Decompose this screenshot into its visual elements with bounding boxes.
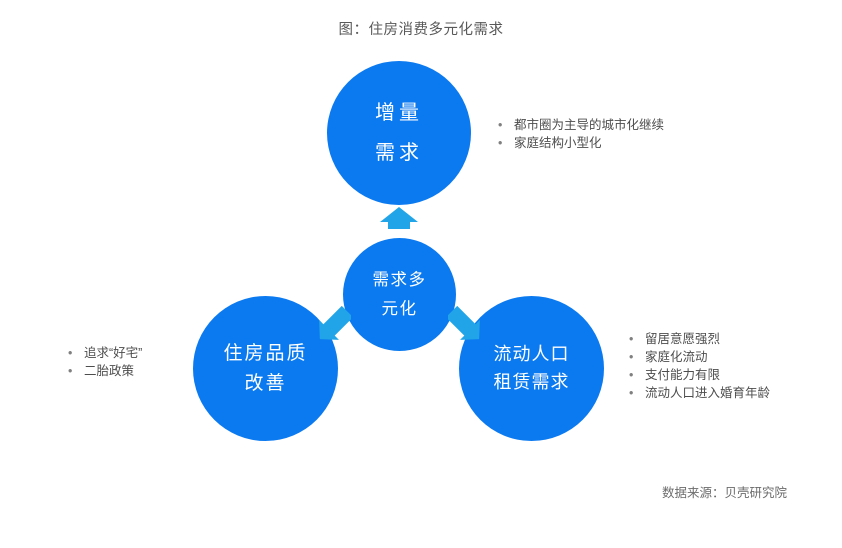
bullet-list-migrant-rental: • 留居意愿强烈 • 家庭化流动 • 支付能力有限 • 流动人口进入婚育年龄: [629, 330, 770, 402]
node-center-line1: 需求多: [373, 266, 427, 294]
bullet-dot-icon: •: [68, 362, 84, 380]
bullet-text: 二胎政策: [84, 362, 134, 380]
node-quality-line2: 改善: [244, 369, 286, 398]
node-circle-growth-demand[interactable]: 增量 需求: [327, 61, 471, 205]
node-circle-diversified-demand[interactable]: 需求多 元化: [343, 238, 456, 351]
node-quality-line1: 住房品质: [223, 339, 307, 368]
node-growth-line1: 增量: [375, 93, 423, 133]
list-item: • 追求“好宅”: [68, 344, 142, 362]
bullet-list-housing-quality: • 追求“好宅” • 二胎政策: [68, 344, 142, 380]
bullet-text: 家庭化流动: [645, 348, 708, 366]
source-note: 数据来源：贝壳研究院: [662, 482, 787, 501]
node-rental-line2: 租赁需求: [494, 369, 570, 397]
bullet-text: 流动人口进入婚育年龄: [645, 384, 770, 402]
figure-title: 图：住房消费多元化需求: [0, 18, 842, 39]
bullet-dot-icon: •: [498, 116, 514, 134]
bullet-dot-icon: •: [498, 134, 514, 152]
figure-canvas: 图：住房消费多元化需求 增量 需求 需求多 元化 住房品质 改善 流动人口 租赁…: [0, 0, 842, 548]
list-item: • 家庭化流动: [629, 348, 770, 366]
list-item: • 支付能力有限: [629, 366, 770, 384]
node-center-line2: 元化: [382, 295, 418, 323]
bullet-dot-icon: •: [629, 384, 645, 402]
list-item: • 二胎政策: [68, 362, 142, 380]
bullet-dot-icon: •: [629, 348, 645, 366]
bullet-text: 留居意愿强烈: [645, 330, 720, 348]
list-item: • 流动人口进入婚育年龄: [629, 384, 770, 402]
bullet-dot-icon: •: [629, 366, 645, 384]
list-item: • 留居意愿强烈: [629, 330, 770, 348]
arrow-up-icon: [378, 206, 420, 230]
node-growth-line2: 需求: [375, 133, 423, 173]
bullet-dot-icon: •: [68, 344, 84, 362]
arrow-down-right-icon: [448, 303, 482, 347]
bullet-text: 都市圈为主导的城市化继续: [514, 116, 664, 134]
list-item: • 家庭结构小型化: [498, 134, 664, 152]
list-item: • 都市圈为主导的城市化继续: [498, 116, 664, 134]
bullet-text: 支付能力有限: [645, 366, 720, 384]
arrow-down-left-icon: [317, 303, 351, 347]
bullet-dot-icon: •: [629, 330, 645, 348]
bullet-text: 家庭结构小型化: [514, 134, 602, 152]
bullet-text: 追求“好宅”: [84, 344, 142, 362]
bullet-list-growth-demand: • 都市圈为主导的城市化继续 • 家庭结构小型化: [498, 116, 664, 152]
node-rental-line1: 流动人口: [494, 341, 570, 369]
